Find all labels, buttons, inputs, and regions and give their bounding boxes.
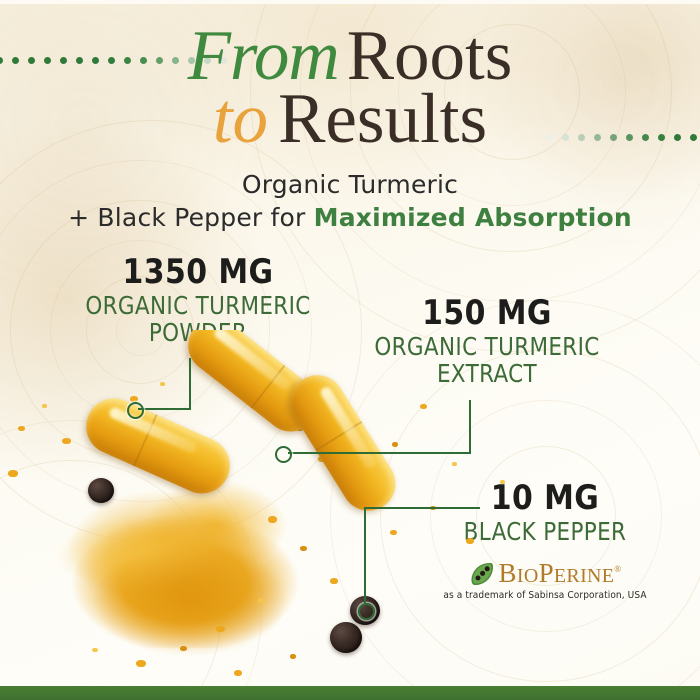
subtitle-line-2: + Black Pepper for Maximized Absorption — [0, 203, 700, 232]
powder-speck — [180, 646, 187, 651]
product-photo — [0, 330, 700, 688]
leader-line-powder-vertical — [189, 358, 191, 410]
infographic-canvas: FromRoots toResults Organic Turmeric + B… — [0, 0, 700, 700]
black-peppercorn — [330, 622, 362, 653]
headline-line-2: toResults — [0, 85, 700, 154]
leader-line-extract-vertical — [469, 400, 471, 454]
powder-speck — [160, 382, 165, 386]
powder-speck — [18, 426, 25, 431]
powder-speck — [92, 648, 98, 652]
subtitle-line-2-prefix: + Black Pepper for — [68, 203, 314, 232]
headline: FromRoots toResults — [0, 22, 700, 154]
powder-speck — [420, 404, 427, 409]
black-peppercorn — [88, 478, 114, 503]
bottom-green-bar — [0, 686, 700, 700]
leader-line-extract-horizontal — [288, 452, 470, 454]
callout-label-line-1: ORGANIC TURMERIC — [69, 292, 327, 319]
leader-marker-pepper — [358, 603, 375, 620]
powder-speck — [258, 598, 264, 603]
powder-speck — [330, 578, 338, 584]
headline-word-results: Results — [278, 80, 487, 158]
powder-speck — [216, 626, 225, 632]
powder-speck — [268, 516, 277, 523]
powder-speck — [452, 462, 457, 466]
headline-word-to: to — [213, 80, 278, 158]
leader-line-pepper-horizontal — [364, 507, 480, 509]
top-edge — [0, 0, 700, 4]
powder-speck — [500, 480, 505, 484]
callout-amount: 1350 MG — [66, 252, 330, 292]
powder-speck — [42, 404, 47, 408]
powder-speck — [390, 530, 397, 535]
powder-speck — [300, 546, 307, 551]
powder-speck — [136, 660, 146, 667]
powder-speck — [290, 654, 296, 659]
leader-marker-extract — [275, 446, 292, 463]
powder-speck — [8, 470, 18, 477]
callout-amount: 150 MG — [355, 293, 619, 333]
subtitle-line-1: Organic Turmeric — [0, 170, 700, 199]
powder-speck — [392, 442, 398, 447]
leader-line-pepper-vertical — [364, 507, 366, 605]
subtitle: Organic Turmeric + Black Pepper for Maxi… — [0, 170, 700, 232]
powder-speck — [62, 438, 71, 444]
powder-speck — [466, 538, 474, 544]
powder-speck — [234, 670, 242, 676]
leader-marker-powder — [127, 402, 144, 419]
leader-line-powder-horizontal — [138, 408, 191, 410]
subtitle-highlight: Maximized Absorption — [314, 203, 632, 232]
